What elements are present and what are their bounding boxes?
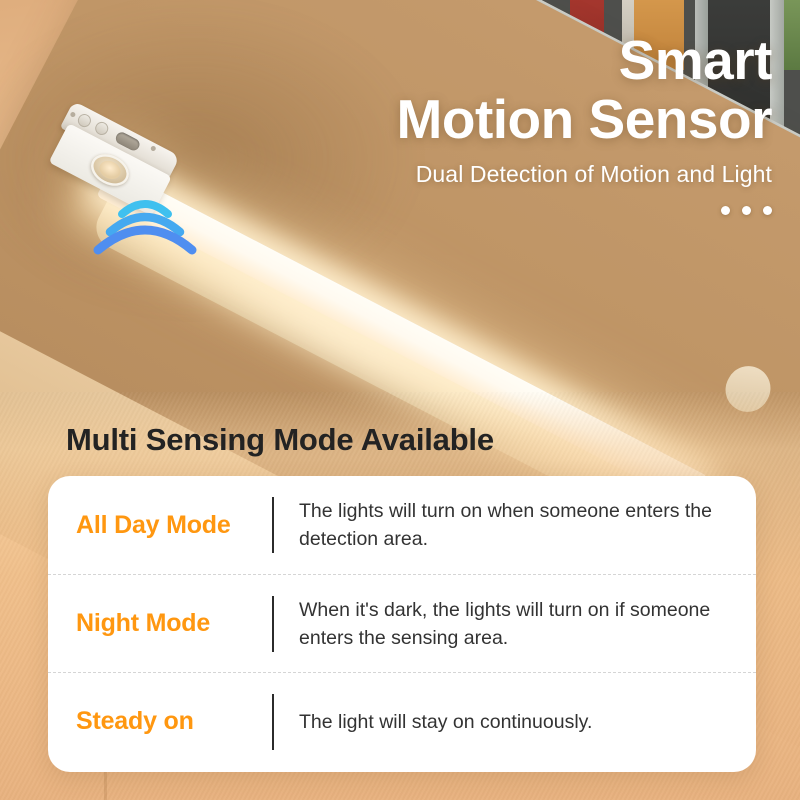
mode-label-steady-on: Steady on — [76, 707, 272, 736]
hero-title-line1: Smart — [397, 32, 772, 88]
mode-row-steady-on: Steady on The light will stay on continu… — [48, 672, 756, 770]
carousel-dots[interactable] — [397, 206, 772, 215]
motion-waves-icon — [88, 180, 208, 272]
mode-description-night: When it's dark, the lights will turn on … — [299, 596, 730, 652]
mode-description-steady-on: The light will stay on continuously. — [299, 708, 592, 736]
hero-headline: Smart Motion Sensor Dual Detection of Mo… — [397, 32, 772, 215]
carousel-dot-1[interactable] — [721, 206, 730, 215]
hero-subtitle: Dual Detection of Motion and Light — [397, 160, 772, 188]
mode-description-all-day: The lights will turn on when someone ent… — [299, 497, 730, 553]
mode-label-night: Night Mode — [76, 609, 272, 638]
mode-label-all-day: All Day Mode — [76, 511, 272, 540]
mode-divider-vertical — [272, 694, 274, 750]
section-title: Multi Sensing Mode Available — [66, 422, 494, 458]
mode-row-all-day: All Day Mode The lights will turn on whe… — [48, 476, 756, 574]
product-marketing-image: Smart Motion Sensor Dual Detection of Mo… — [0, 0, 800, 800]
modes-card: All Day Mode The lights will turn on whe… — [48, 476, 756, 772]
carousel-dot-2[interactable] — [742, 206, 751, 215]
carousel-dot-3[interactable] — [763, 206, 772, 215]
hero-title-line2: Motion Sensor — [397, 88, 772, 150]
mode-divider-vertical — [272, 497, 274, 553]
mode-divider-vertical — [272, 596, 274, 652]
mode-row-night: Night Mode When it's dark, the lights wi… — [48, 574, 756, 672]
